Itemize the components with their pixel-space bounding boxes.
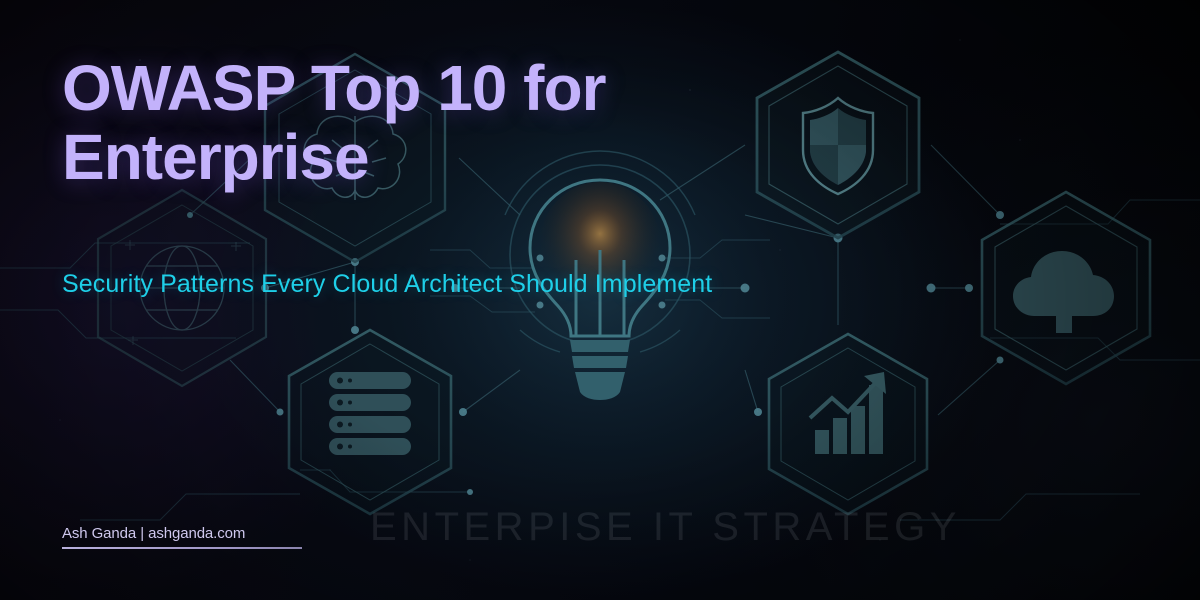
attribution[interactable]: Ash Ganda | ashganda.com	[62, 525, 302, 549]
banner-canvas: ENTERPISE IT STRATEGY OWASP Top 10 for E…	[0, 0, 1200, 600]
attribution-label: Ash Ganda | ashganda.com	[62, 525, 302, 542]
page-title: OWASP Top 10 for Enterprise	[62, 54, 722, 192]
attribution-underline	[62, 547, 302, 549]
page-subtitle: Security Patterns Every Cloud Architect …	[62, 270, 712, 299]
watermark-text: ENTERPISE IT STRATEGY	[370, 505, 961, 550]
